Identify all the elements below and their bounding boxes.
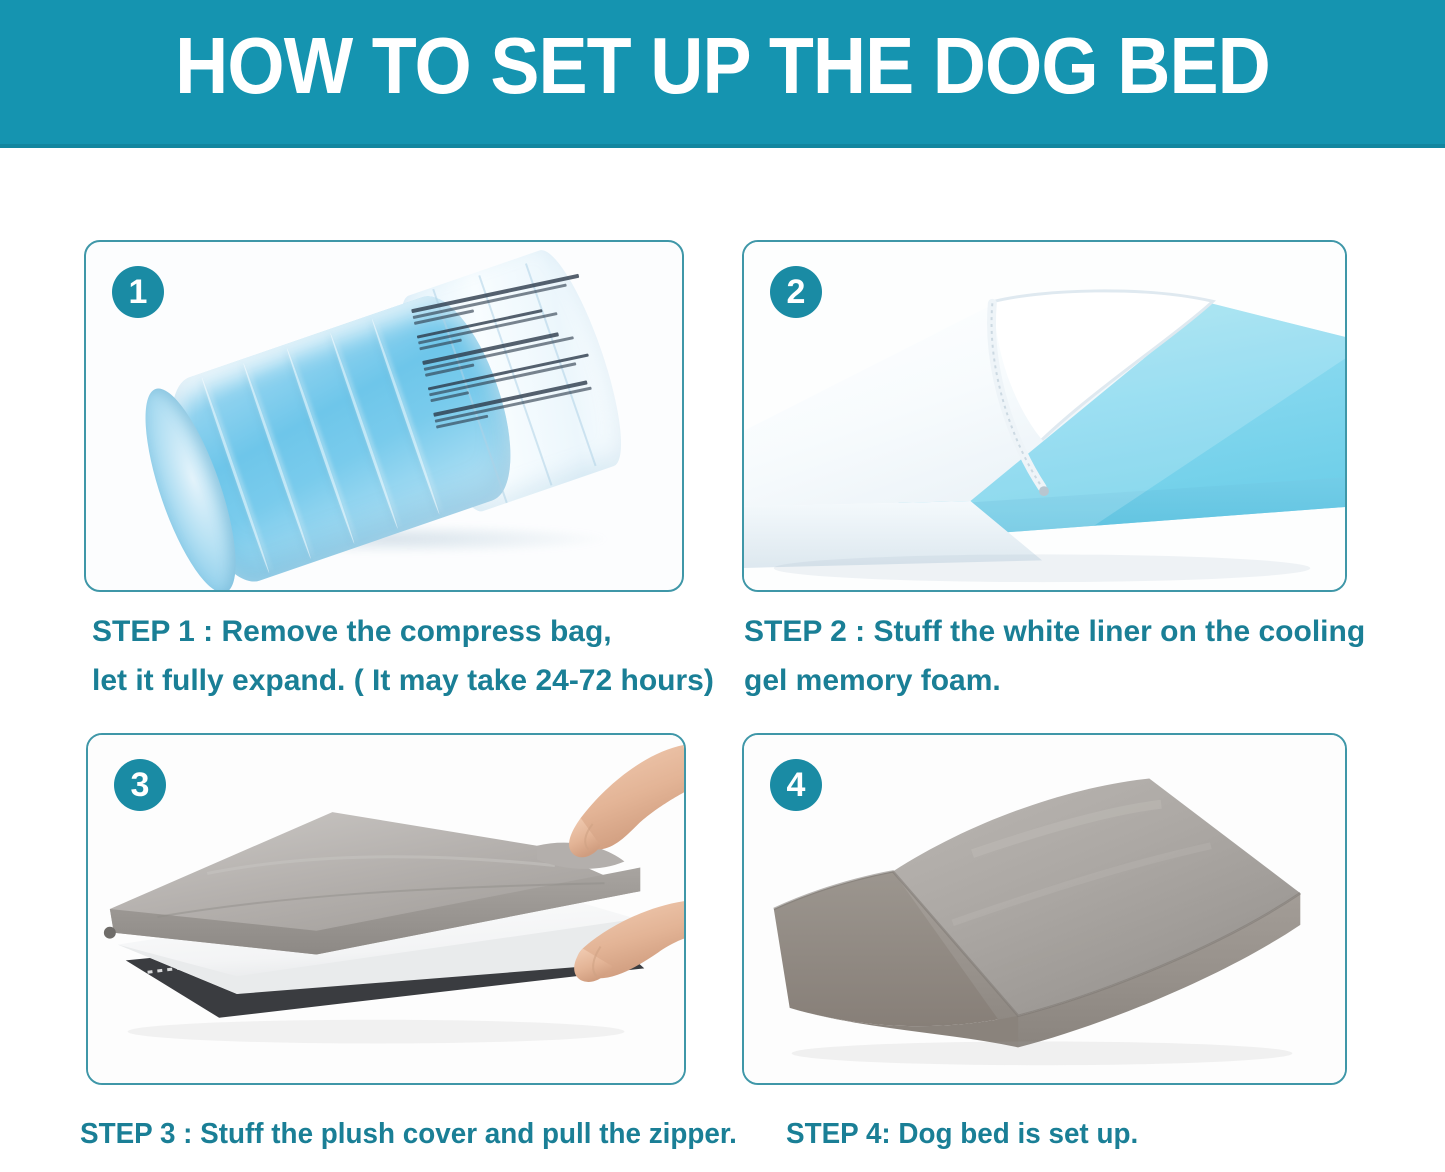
step-1-panel: 1 [84,240,684,592]
step-2-caption: STEP 2 : Stuff the white liner on the co… [744,608,1394,705]
header-banner: HOW TO SET UP THE DOG BED [0,0,1445,148]
warning-label-text [411,272,623,485]
step-4-caption: STEP 4: Dog bed is set up. [786,1118,1138,1151]
drop-shadow [774,554,1310,582]
step-1-caption: STEP 1 : Remove the compress bag, let it… [92,608,732,705]
step-3-panel: 3 [86,733,686,1085]
drop-shadow [792,1041,1293,1065]
step-4-image [744,735,1345,1083]
drop-shadow [128,1020,625,1044]
step-3-image [88,735,684,1083]
zipper-pull-icon [1039,486,1049,496]
zipper-pull-icon [104,927,116,939]
step-2-panel: 2 [742,240,1347,592]
step-4-badge: 4 [770,759,822,811]
page-title: HOW TO SET UP THE DOG BED [58,26,1387,106]
step-1-badge: 1 [112,266,164,318]
step-1-image [136,262,656,582]
step-3-caption: STEP 3 : Stuff the plush cover and pull … [80,1118,737,1151]
step-2-image [744,242,1345,590]
step-2-badge: 2 [770,266,822,318]
step-3-badge: 3 [114,759,166,811]
step-4-panel: 4 [742,733,1347,1085]
